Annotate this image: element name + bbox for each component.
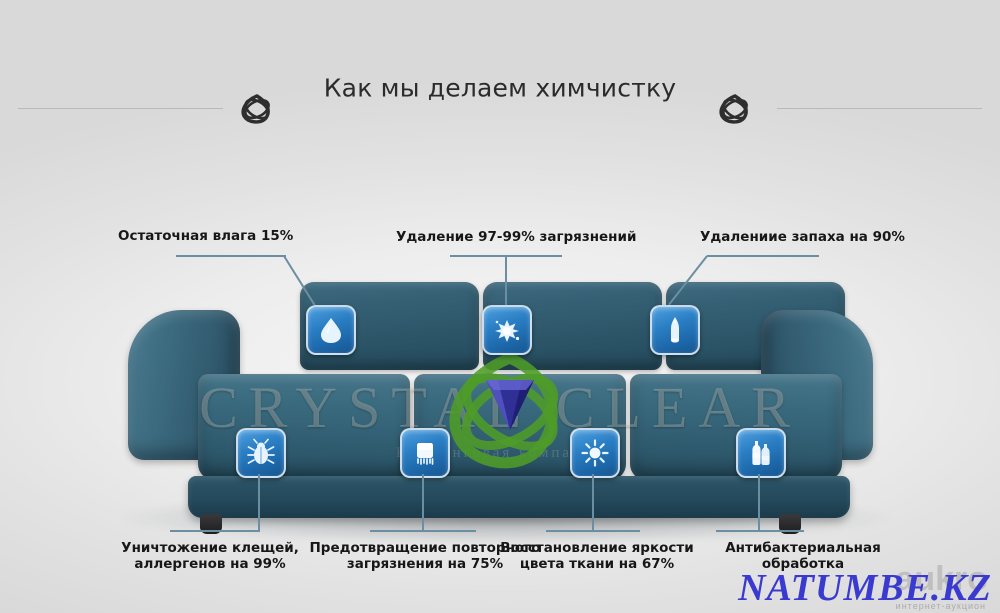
callout-label-soil-removal: Удаление 97-99% загрязнений <box>396 229 636 245</box>
callout-label-color-brightness: Восстановление яркости цвета ткани на 67… <box>492 540 702 572</box>
leader-line <box>176 255 286 257</box>
callout-label-odor-removal: Удалениие запаха на 90% <box>700 229 905 245</box>
callout-label-line: Антибактериальная <box>690 540 916 556</box>
chemical-bottles-icon <box>736 428 786 478</box>
site-watermark-tagline: интернет-аукцион <box>896 601 986 611</box>
spray-vapor-icon <box>650 305 700 355</box>
leader-line <box>716 530 804 532</box>
callout-label-line: Уничтожение клещей, <box>110 540 310 556</box>
leader-line <box>258 474 260 530</box>
callout-label-mite-allergen: Уничтожение клещей, аллергенов на 99% <box>110 540 310 572</box>
infographic-canvas: Как мы делаем химчистку CRYSTAL CLEAR Кл… <box>0 0 1000 613</box>
sofa-seat-cushion <box>198 374 410 480</box>
fabric-shield-icon <box>400 428 450 478</box>
header-rule-right <box>777 108 982 109</box>
leader-line <box>370 530 476 532</box>
callout-label-residual-moisture: Остаточная влага 15% <box>118 228 293 244</box>
header: Как мы делаем химчистку <box>0 38 1000 102</box>
leader-line <box>592 474 594 530</box>
bug-mite-icon <box>236 428 286 478</box>
leader-line <box>707 255 819 257</box>
callout-label-line: Восстановление яркости <box>492 540 702 556</box>
water-drop-icon <box>306 305 356 355</box>
page-title: Как мы делаем химчистку <box>0 74 1000 103</box>
leader-line <box>422 474 424 530</box>
leader-line <box>758 474 760 530</box>
stain-splash-icon <box>482 305 532 355</box>
callout-label-line: цвета ткани на 67% <box>492 556 702 572</box>
sofa-base <box>188 476 850 518</box>
leader-line <box>546 530 640 532</box>
sun-brightness-icon <box>570 428 620 478</box>
callout-label-line: аллергенов на 99% <box>110 556 310 572</box>
leader-line <box>170 530 260 532</box>
leader-line <box>505 255 507 305</box>
header-rule-left <box>18 108 223 109</box>
